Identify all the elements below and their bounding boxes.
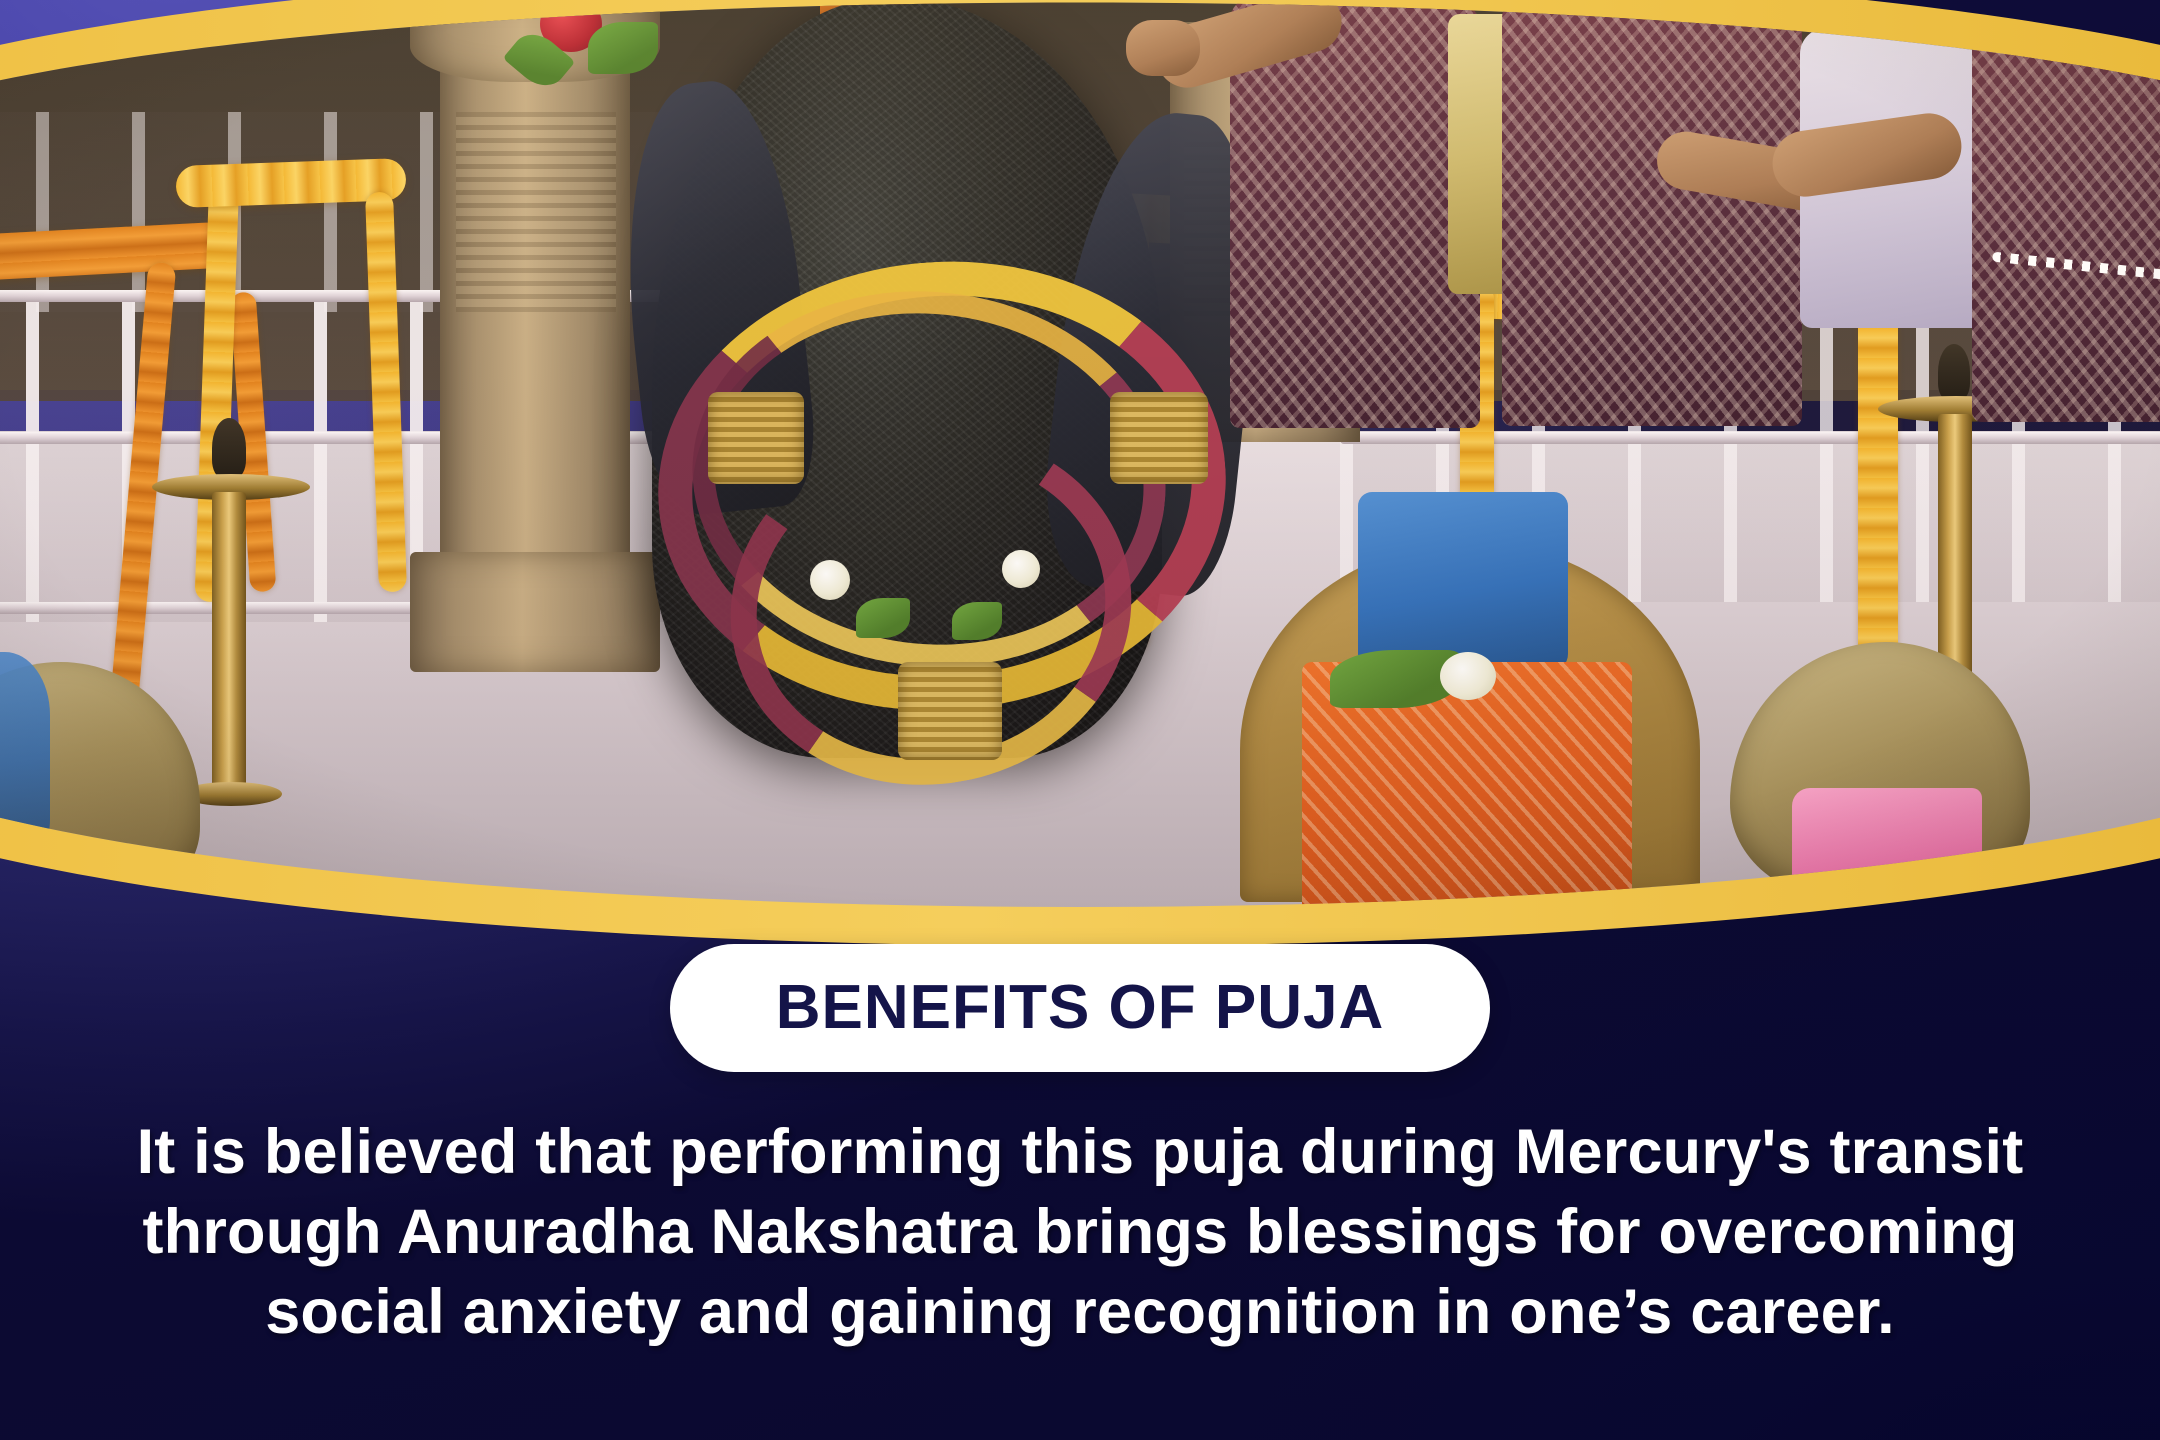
photo-pillar-carving-left [456,112,616,312]
benefits-badge-label: BENEFITS OF PUJA [776,977,1385,1039]
body-copy-line-3: social anxiety and gaining recognition i… [100,1272,2060,1352]
photo-brass-pot-left [708,392,804,484]
photo-brass-pot-bottom [898,662,1002,760]
benefits-badge: BENEFITS OF PUJA [670,944,1490,1072]
photo-green-leaf-3 [856,598,910,638]
photo-white-flower-2 [1002,550,1040,588]
banner-photo-frame [0,0,2160,982]
photo-lamp-finial-right [1938,344,1970,400]
photo-white-flower-1 [810,560,850,600]
poster-canvas: BENEFITS OF PUJA It is believed that per… [0,0,2160,1440]
photo-lamp-stem-left [212,492,246,792]
photo-shrine-flower [1440,652,1496,700]
body-copy-line-1: It is believed that performing this puja… [100,1112,2060,1192]
photo-lamp-finial-left [212,418,246,478]
photo-brass-pot-right [1110,392,1208,484]
body-copy-line-2: through Anuradha Nakshatra brings blessi… [100,1192,2060,1272]
photo-pillar-base-left [410,552,660,672]
banner-svg [0,0,2160,982]
photo-green-leaf-1 [588,22,658,74]
photo-devotee-1-hand [1126,20,1200,76]
photo-devotee-2-sari [1502,0,1802,426]
photo-blue-vessel [1358,492,1568,672]
photo-green-leaf-4 [952,602,1002,640]
photo-stone-pillar-left [440,0,630,632]
body-copy: It is believed that performing this puja… [100,1112,2060,1352]
